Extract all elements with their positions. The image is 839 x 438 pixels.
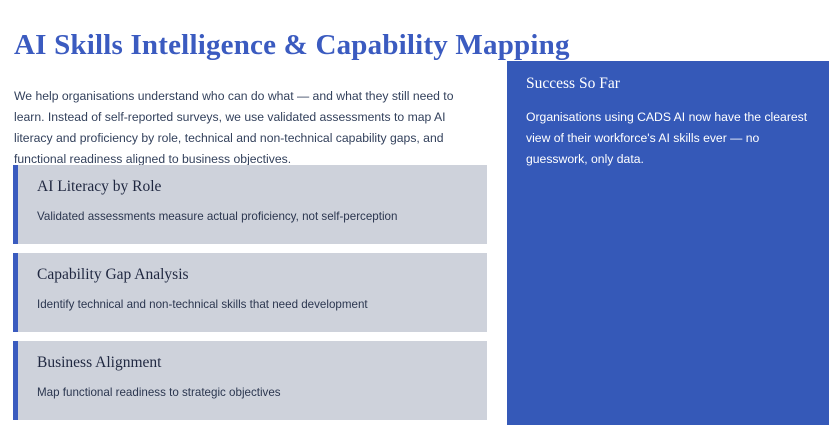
success-panel-title: Success So Far — [526, 73, 810, 95]
feature-card-list: AI Literacy by Role Validated assessment… — [13, 165, 487, 420]
page-title: AI Skills Intelligence & Capability Mapp… — [14, 27, 654, 63]
success-panel-body: Organisations using CADS AI now have the… — [526, 107, 810, 170]
feature-card-description: Identify technical and non-technical ski… — [37, 297, 487, 313]
success-panel: Success So Far Organisations using CADS … — [507, 61, 829, 425]
feature-card-capability-gap[interactable]: Capability Gap Analysis Identify technic… — [13, 253, 487, 332]
feature-card-business-alignment[interactable]: Business Alignment Map functional readin… — [13, 341, 487, 420]
intro-paragraph: We help organisations understand who can… — [14, 86, 484, 170]
feature-card-title: Business Alignment — [37, 353, 487, 373]
feature-card-title: Capability Gap Analysis — [37, 265, 487, 285]
feature-card-description: Validated assessments measure actual pro… — [37, 209, 487, 225]
feature-card-ai-literacy[interactable]: AI Literacy by Role Validated assessment… — [13, 165, 487, 244]
feature-card-description: Map functional readiness to strategic ob… — [37, 385, 487, 401]
page-root: AI Skills Intelligence & Capability Mapp… — [0, 0, 839, 438]
left-content-column: We help organisations understand who can… — [0, 61, 492, 421]
feature-card-title: AI Literacy by Role — [37, 177, 487, 197]
